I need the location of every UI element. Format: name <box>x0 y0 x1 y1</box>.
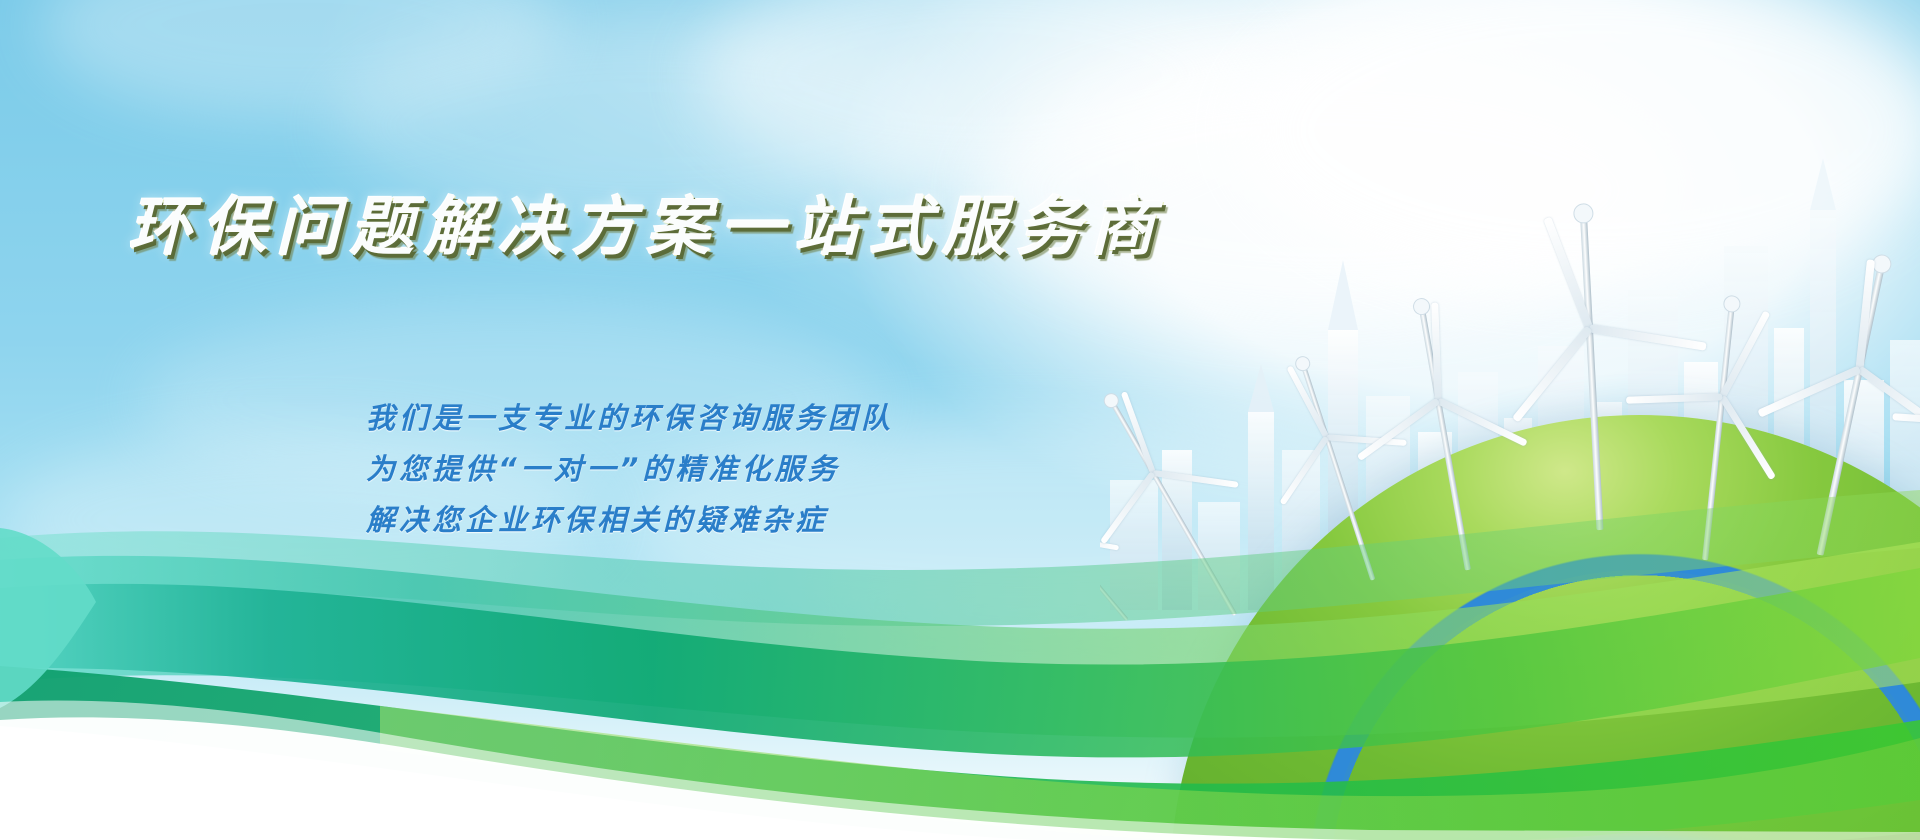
green-wave-ribbon <box>0 420 1920 840</box>
page-title: 环保问题解决方案一站式服务商 <box>128 196 1164 260</box>
subtitle-line-2: 为您提供“一对一”的精准化服务 <box>366 455 840 484</box>
subtitle-line-3: 解决您企业环保相关的疑难杂症 <box>366 506 828 535</box>
subtitle-line-1: 我们是一支专业的环保咨询服务团队 <box>366 404 894 433</box>
eco-service-banner: 环保问题解决方案一站式服务商 我们是一支专业的环保咨询服务团队 为您提供“一对一… <box>0 0 1920 840</box>
